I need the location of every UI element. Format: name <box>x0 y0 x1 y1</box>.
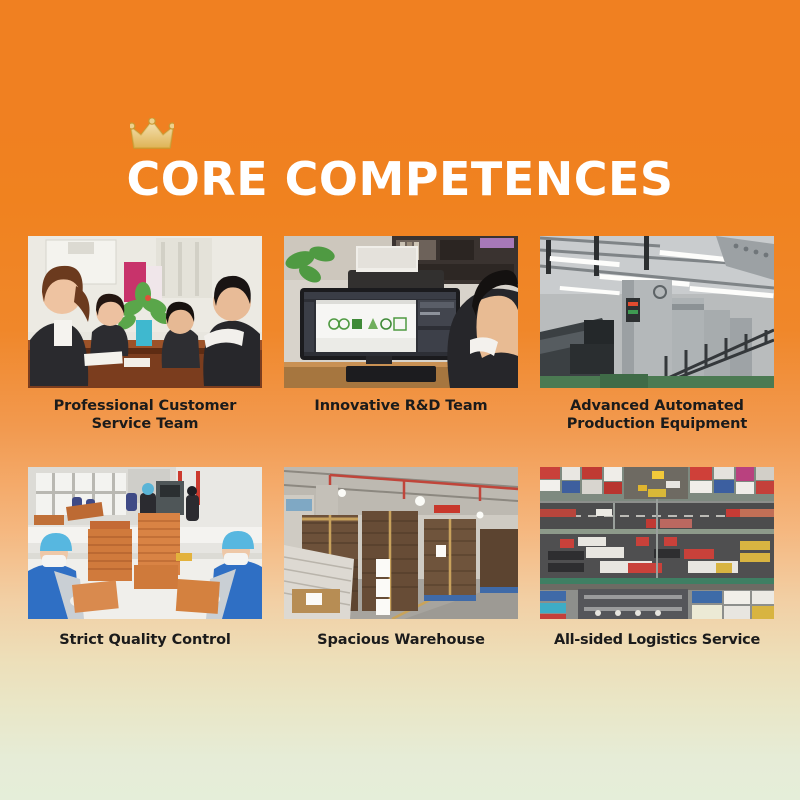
title-block: CORE COMPETENCES <box>0 150 800 208</box>
photo-warehouse-icon <box>284 467 518 619</box>
photo-logistics-icon <box>540 467 774 619</box>
competence-card-grid: Professional Customer Service Team <box>28 236 773 649</box>
card-spacious-warehouse[interactable]: Spacious Warehouse <box>284 467 518 649</box>
title-wrap: CORE COMPETENCES <box>126 150 673 208</box>
card-advanced-automated-production-equipment[interactable]: Advanced Automated Production Equipment <box>540 236 774 433</box>
card-row-top: Professional Customer Service Team <box>28 236 773 433</box>
card-caption: All-sided Logistics Service <box>540 631 774 649</box>
card-row-bottom: Strict Quality Control <box>28 467 773 649</box>
card-professional-customer-service-team[interactable]: Professional Customer Service Team <box>28 236 262 433</box>
card-caption: Spacious Warehouse <box>284 631 518 649</box>
card-caption: Professional Customer Service Team <box>28 397 262 433</box>
card-caption: Strict Quality Control <box>28 631 262 649</box>
card-caption: Innovative R&D Team <box>284 397 518 415</box>
photo-meeting-icon <box>28 236 262 388</box>
card-innovative-rd-team[interactable]: Innovative R&D Team <box>284 236 518 433</box>
photo-designer-icon <box>284 236 518 388</box>
core-competences-banner: CORE COMPETENCES <box>0 0 800 800</box>
page-title: CORE COMPETENCES <box>126 150 673 208</box>
card-strict-quality-control[interactable]: Strict Quality Control <box>28 467 262 649</box>
card-caption: Advanced Automated Production Equipment <box>540 397 774 433</box>
photo-press-icon <box>540 236 774 388</box>
photo-qc-icon <box>28 467 262 619</box>
card-all-sided-logistics-service[interactable]: All-sided Logistics Service <box>540 467 774 649</box>
crown-icon <box>130 118 174 152</box>
